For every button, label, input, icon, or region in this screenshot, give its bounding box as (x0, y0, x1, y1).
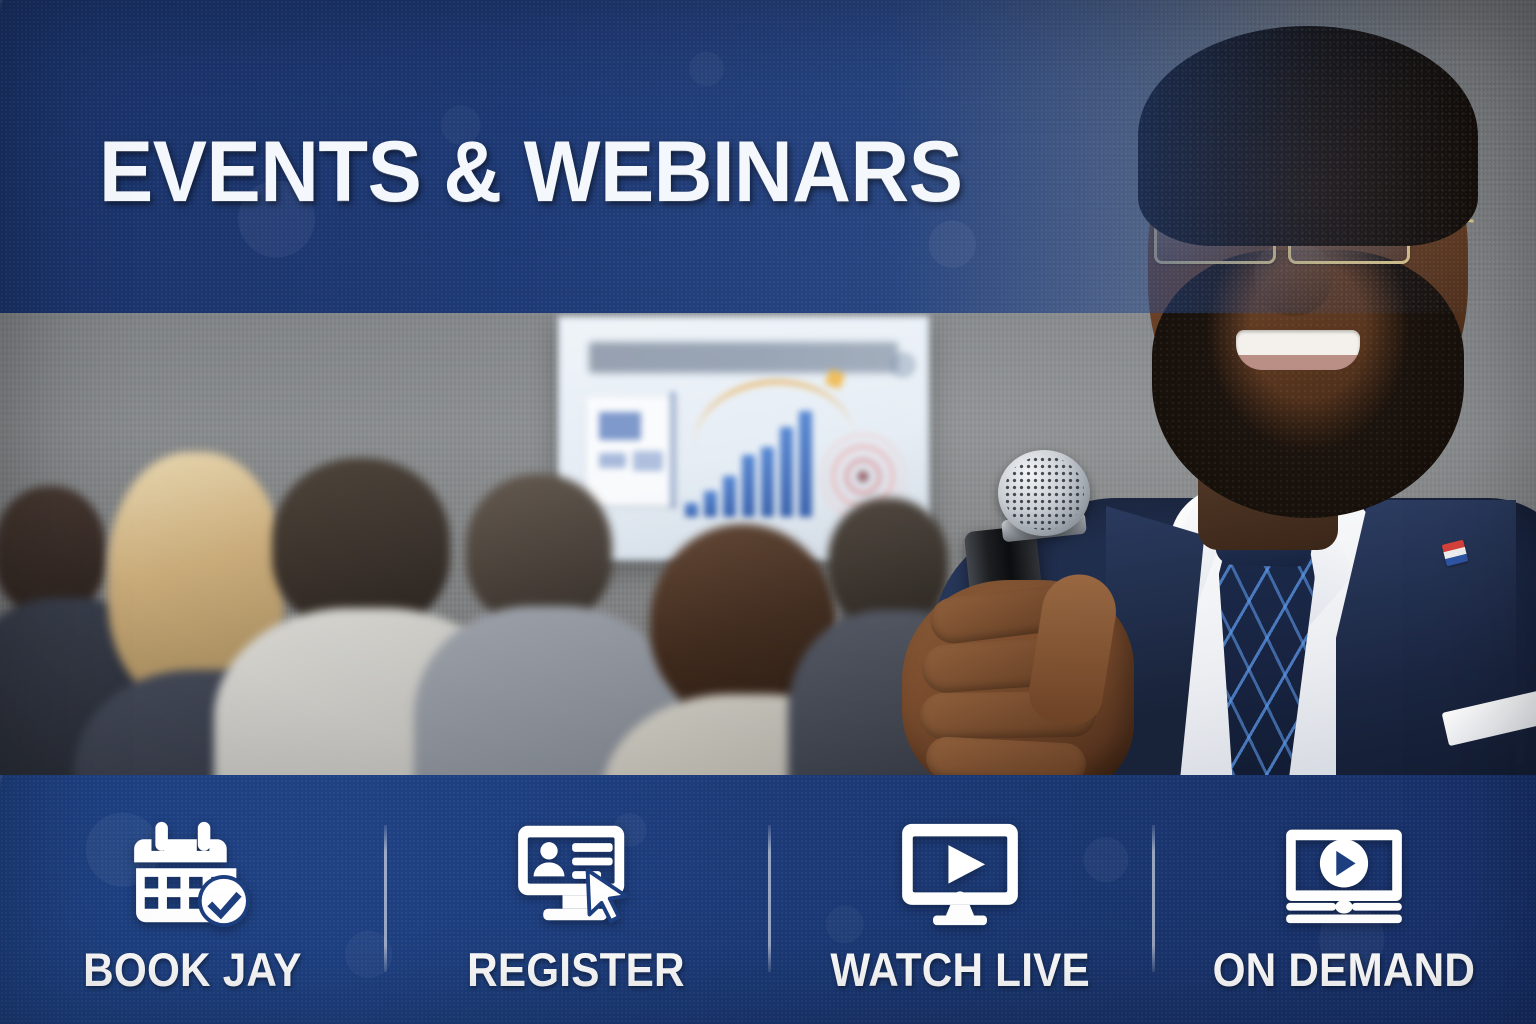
events-webinars-banner: EVENTS & WEBINARS BOOK (0, 0, 1536, 1024)
cta-label-register: REGISTER (467, 946, 685, 993)
microphone-head (998, 450, 1090, 536)
calendar-check-icon (128, 820, 256, 928)
cta-book-jay[interactable]: BOOK JAY (0, 775, 384, 1024)
cta-row: BOOK JAY REGI (0, 775, 1536, 1024)
cta-on-demand[interactable]: ON DEMAND (1152, 775, 1536, 1024)
laptop-play-circle-icon (1280, 820, 1408, 928)
suit-lapel-right (1336, 500, 1516, 800)
cta-label-watch-live: WATCH LIVE (830, 946, 1090, 993)
cta-register[interactable]: REGISTER (384, 775, 768, 1024)
cta-label-on-demand: ON DEMAND (1213, 946, 1475, 993)
cta-label-book-jay: BOOK JAY (83, 946, 302, 993)
monitor-form-cursor-icon (512, 820, 640, 928)
monitor-play-icon (896, 820, 1024, 928)
cta-bar: BOOK JAY REGI (0, 775, 1536, 1024)
speaker-smile (1236, 330, 1360, 370)
cta-watch-live[interactable]: WATCH LIVE (768, 775, 1152, 1024)
page-title: EVENTS & WEBINARS (99, 130, 962, 214)
